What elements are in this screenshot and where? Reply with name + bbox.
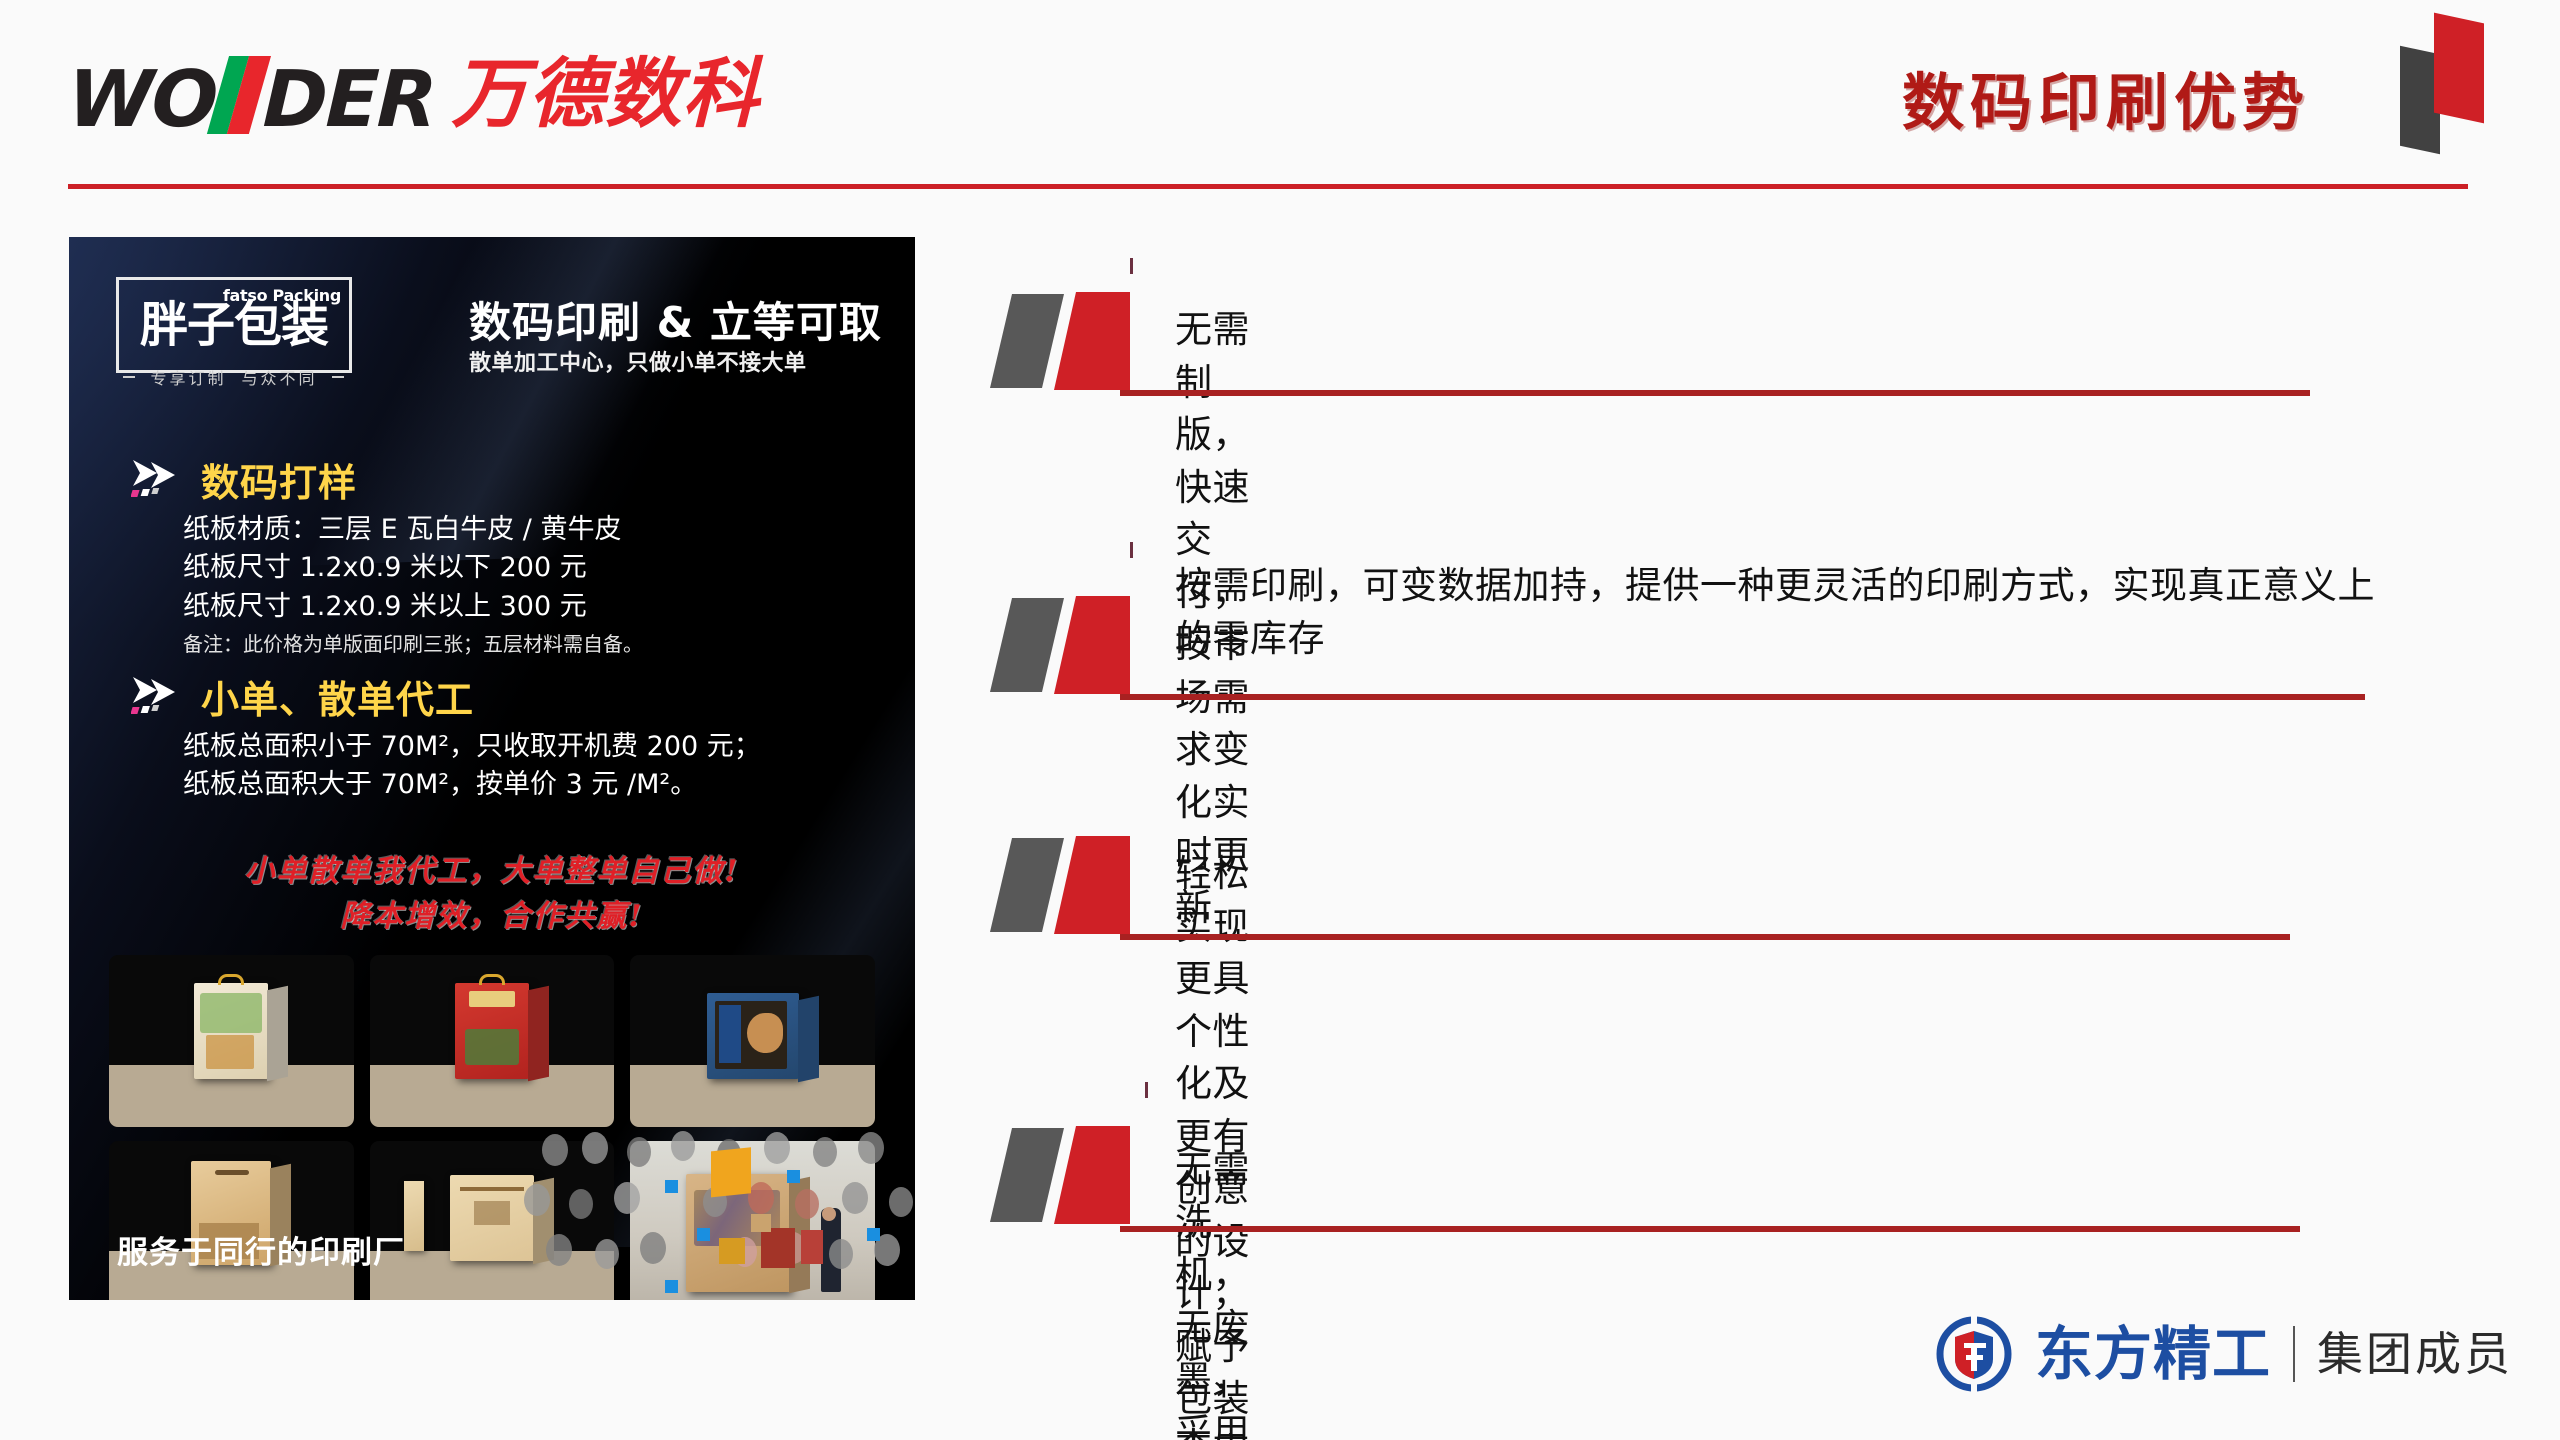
section-title: 数码打样 xyxy=(201,452,357,507)
slide-root: WO D ER 万德数科 数码印刷优势 胖子包装 fatso Packing 专… xyxy=(0,0,2560,1440)
section-line: 纸板尺寸 1.2x0.9 米以下 200 元 xyxy=(183,549,643,587)
wonder-chinese-name: 万德数科 xyxy=(451,56,759,132)
advantage-text: 按需印刷，可变数据加持，提供一种更灵活的印刷方式，实现真正意义上的零库存 xyxy=(1175,560,2375,665)
poster-slogan: 小单散单我代工，大单整单自己做! 降本增效，合作共赢! xyxy=(69,849,915,939)
section-note: 备注：此价格为单版面印刷三张；五层材料需自备。 xyxy=(183,629,643,659)
advantage-underline xyxy=(1120,390,2310,396)
fatso-packing-logo: 胖子包装 fatso Packing xyxy=(116,277,352,373)
product-photo xyxy=(370,955,615,1127)
wonder-wordmark: WO D ER xyxy=(66,48,437,139)
advantage-underline xyxy=(1120,694,2365,700)
tagline-rule-left xyxy=(123,376,135,378)
dongfang-shield-circle-logo-icon xyxy=(1935,1315,2013,1393)
footer-member-label: 集团成员 xyxy=(2317,1331,2513,1377)
advantage-text: 无需洗机，无废墨，采用水性墨水，更环保节能 xyxy=(1175,1144,1250,1440)
footer-company-name: 东方精工 xyxy=(2035,1325,2271,1383)
poster-headline: 数码印刷 & 立等可取 xyxy=(469,289,882,350)
tagline-right: 与众不同 xyxy=(241,365,317,389)
poster-section-small-order-oem: 小单、散单代工 纸板总面积小于 70M²，只收取开机费 200 元； 纸板总面积… xyxy=(131,669,761,805)
poster-subheadline: 散单加工中心，只做小单不接大单 xyxy=(469,345,807,377)
slogan-line-1: 小单散单我代工，大单整单自己做! xyxy=(69,849,915,894)
wonder-wordmark-part-1: WO xyxy=(66,61,217,139)
footer-divider xyxy=(2293,1326,2295,1382)
bullet-marker-icon xyxy=(990,1122,1190,1242)
advantage-underline xyxy=(1120,1226,2300,1232)
product-photo xyxy=(109,955,354,1127)
slogan-line-2: 降本增效，合作共赢! xyxy=(69,894,915,939)
product-photo xyxy=(630,955,875,1127)
section-line: 纸板总面积大于 70M²，按单价 3 元 /M²。 xyxy=(183,766,761,804)
advantage-underline xyxy=(1120,934,2290,940)
fatso-logo-en: fatso Packing xyxy=(223,286,341,305)
wonder-wordmark-part-2: D xyxy=(262,61,327,139)
wonder-logo: WO D ER 万德数科 xyxy=(68,48,759,139)
poster-service-text: 服务于同行的印刷厂 xyxy=(117,1227,405,1272)
decorative-dot-pattern-icon xyxy=(515,1110,915,1300)
fatso-logo-cn: 胖子包装 xyxy=(140,301,328,349)
chevron-arrow-icon xyxy=(131,458,185,502)
section-line: 纸板材质：三层 E 瓦白牛皮 / 黄牛皮 xyxy=(183,511,643,549)
tick-mark xyxy=(1130,258,1133,274)
footer-brand: 东方精工 集团成员 xyxy=(1935,1315,2513,1393)
page-title: 数码印刷优势 xyxy=(1902,52,2310,142)
tagline-left: 专享订制 xyxy=(150,365,226,389)
wonder-wordmark-part-3: ER xyxy=(325,61,437,139)
tick-mark xyxy=(1130,542,1133,558)
corner-decoration-icon xyxy=(2400,8,2500,158)
section-title: 小单、散单代工 xyxy=(201,669,474,724)
section-line: 纸板尺寸 1.2x0.9 米以上 300 元 xyxy=(183,588,643,626)
fatso-logo-tagline: 专享订制 与众不同 xyxy=(116,365,352,389)
section-line: 纸板总面积小于 70M²，只收取开机费 200 元； xyxy=(183,728,761,766)
chevron-arrow-icon xyxy=(131,675,185,719)
product-photo xyxy=(109,1141,354,1300)
poster-section-digital-proofing: 数码打样 纸板材质：三层 E 瓦白牛皮 / 黄牛皮 纸板尺寸 1.2x0.9 米… xyxy=(131,452,643,659)
promo-poster-image: 胖子包装 fatso Packing 专享订制 与众不同 数码印刷 & 立等可取… xyxy=(69,237,915,1300)
corner-red-shape xyxy=(2434,13,2484,124)
header-divider xyxy=(68,184,2468,189)
tagline-rule-right xyxy=(332,376,344,378)
tick-mark xyxy=(1145,1082,1148,1098)
